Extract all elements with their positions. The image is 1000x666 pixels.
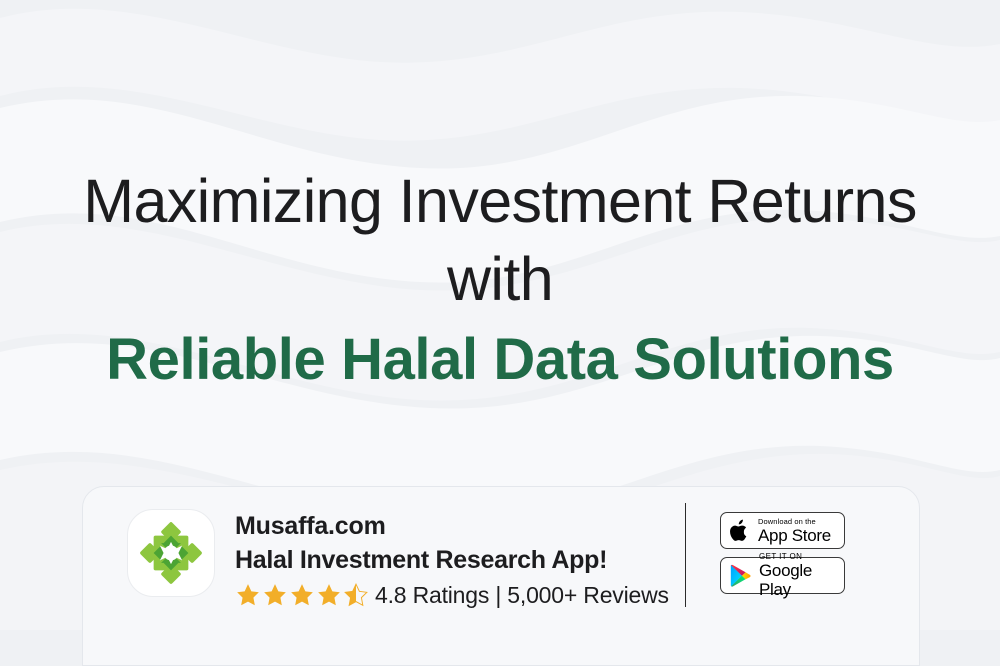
google-play-icon [730,564,751,587]
app-store-badge[interactable]: Download on the App Store [720,512,845,549]
star-icon-full [316,582,342,608]
musaffa-logo-icon [140,522,202,584]
brand-name: Musaffa.com [235,509,735,543]
apple-icon [730,519,750,543]
store-badges: Download on the App Store [720,512,845,594]
google-play-labels: GET IT ON Google Play [759,552,835,599]
star-icon-half [343,582,369,608]
app-store-big-label: App Store [758,526,831,545]
app-promo-card: Musaffa.com Halal Investment Research Ap… [82,486,920,666]
rating-text: 4.8 Ratings | 5,000+ Reviews [375,580,669,610]
hero-section: Maximizing Investment Returns with Relia… [0,162,1000,396]
brand-tagline: Halal Investment Research App! [235,543,735,577]
google-play-big-label: Google Play [759,561,835,599]
page-subtitle: Reliable Halal Data Solutions [0,324,1000,396]
rating-row: 4.8 Ratings | 5,000+ Reviews [235,580,735,610]
google-play-badge[interactable]: GET IT ON Google Play [720,557,845,594]
vertical-divider [685,503,686,607]
star-icon-full [262,582,288,608]
google-play-small-label: GET IT ON [759,552,835,561]
star-rating [235,582,369,608]
app-store-labels: Download on the App Store [758,517,831,545]
star-icon-full [235,582,261,608]
star-icon-full [289,582,315,608]
page-title: Maximizing Investment Returns with [0,162,1000,318]
app-icon-tile[interactable] [127,509,215,597]
promo-text-block: Musaffa.com Halal Investment Research Ap… [235,509,735,610]
app-store-small-label: Download on the [758,517,831,526]
